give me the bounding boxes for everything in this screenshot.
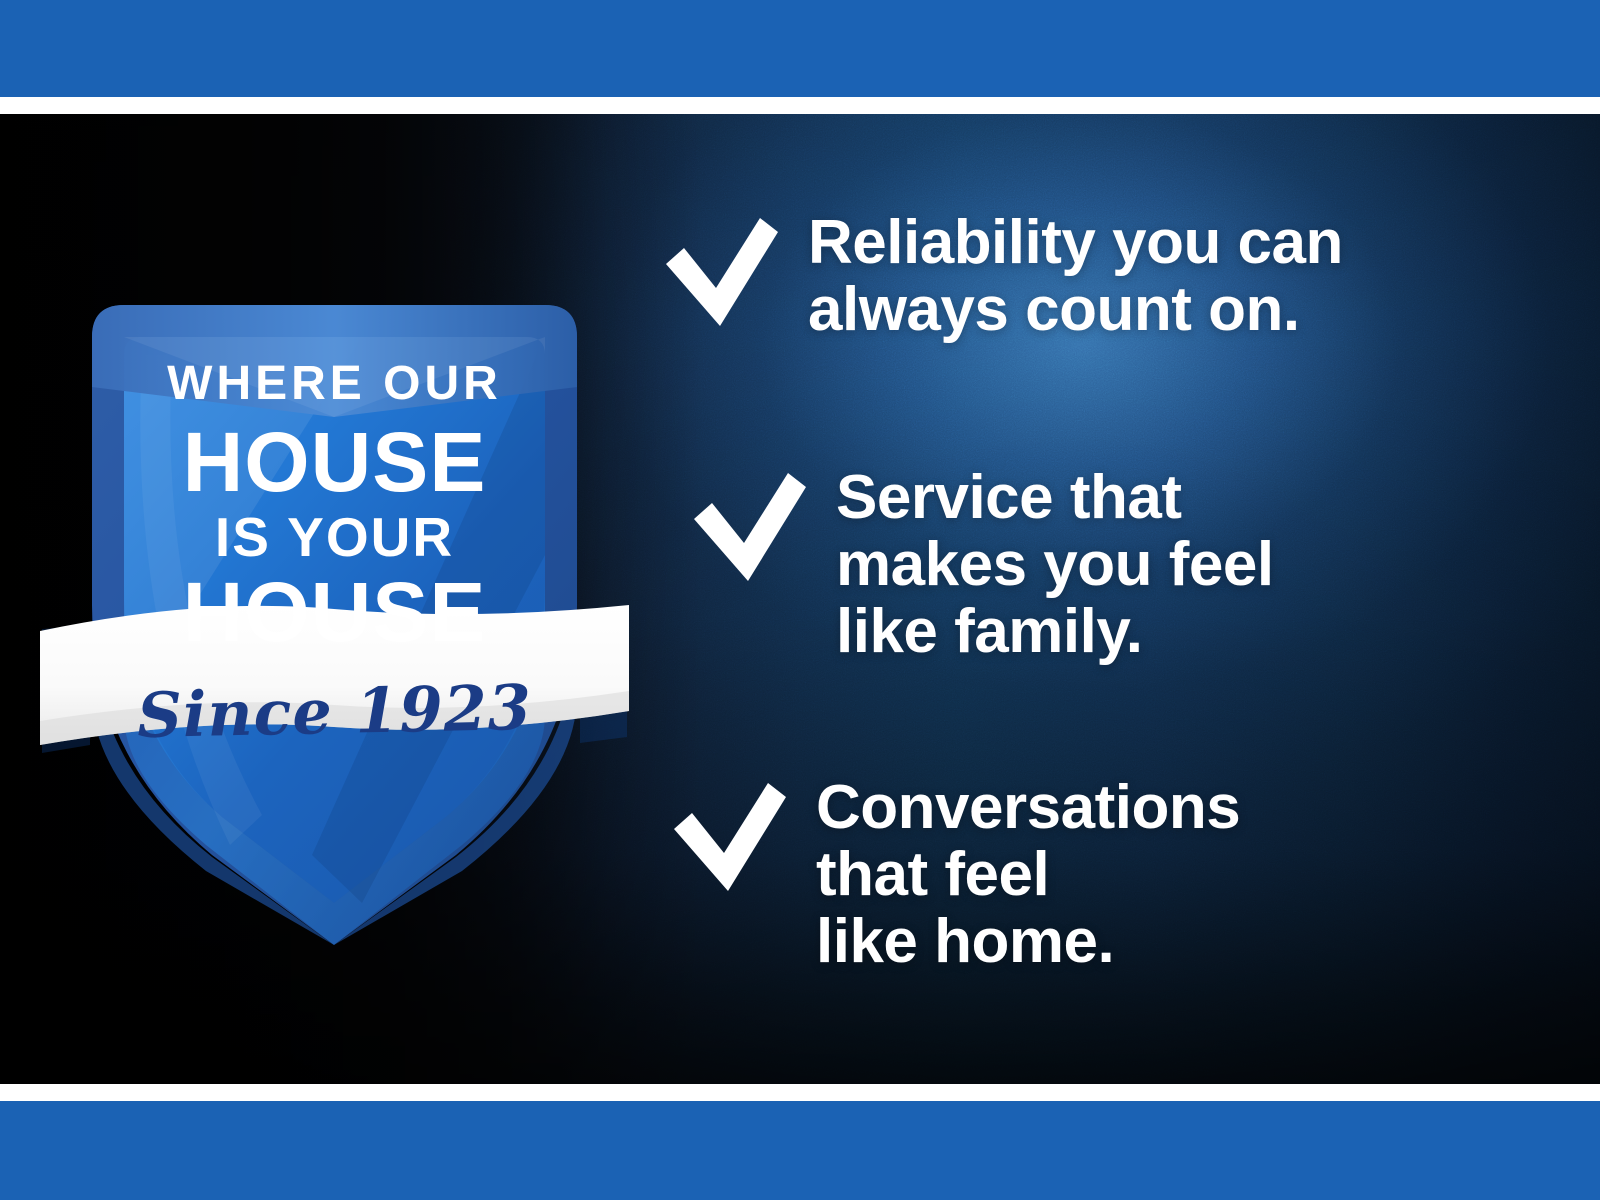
list-item: Service that makes you feel like family. (688, 465, 1436, 666)
top-accent-bar (0, 0, 1600, 97)
list-item: Conversations that feel like home. (668, 775, 1436, 976)
badge-line-house-2: HOUSE (183, 565, 487, 659)
bottom-white-rule (0, 1084, 1600, 1101)
shield-badge: WHERE OUR HOUSE IS YOUR HOUSE Since 1923 (62, 155, 607, 945)
checkmark-icon (688, 469, 808, 587)
badge-line-is-your: IS YOUR (215, 506, 454, 568)
list-item: Reliability you can always count on. (660, 210, 1468, 344)
poster-canvas: WHERE OUR HOUSE IS YOUR HOUSE Since 1923… (0, 0, 1600, 1200)
list-item-label: Service that makes you feel like family. (836, 465, 1436, 666)
checkmark-icon (660, 214, 780, 332)
badge-line-house-1: HOUSE (183, 415, 487, 509)
bottom-accent-bar (0, 1101, 1600, 1200)
badge-line-where-our: WHERE OUR (167, 357, 502, 410)
list-item-label: Reliability you can always count on. (808, 210, 1468, 344)
checkmark-icon (668, 779, 788, 897)
top-white-rule (0, 97, 1600, 114)
badge-since-script: Since 1923 (61, 669, 607, 753)
list-item-label: Conversations that feel like home. (816, 775, 1436, 976)
